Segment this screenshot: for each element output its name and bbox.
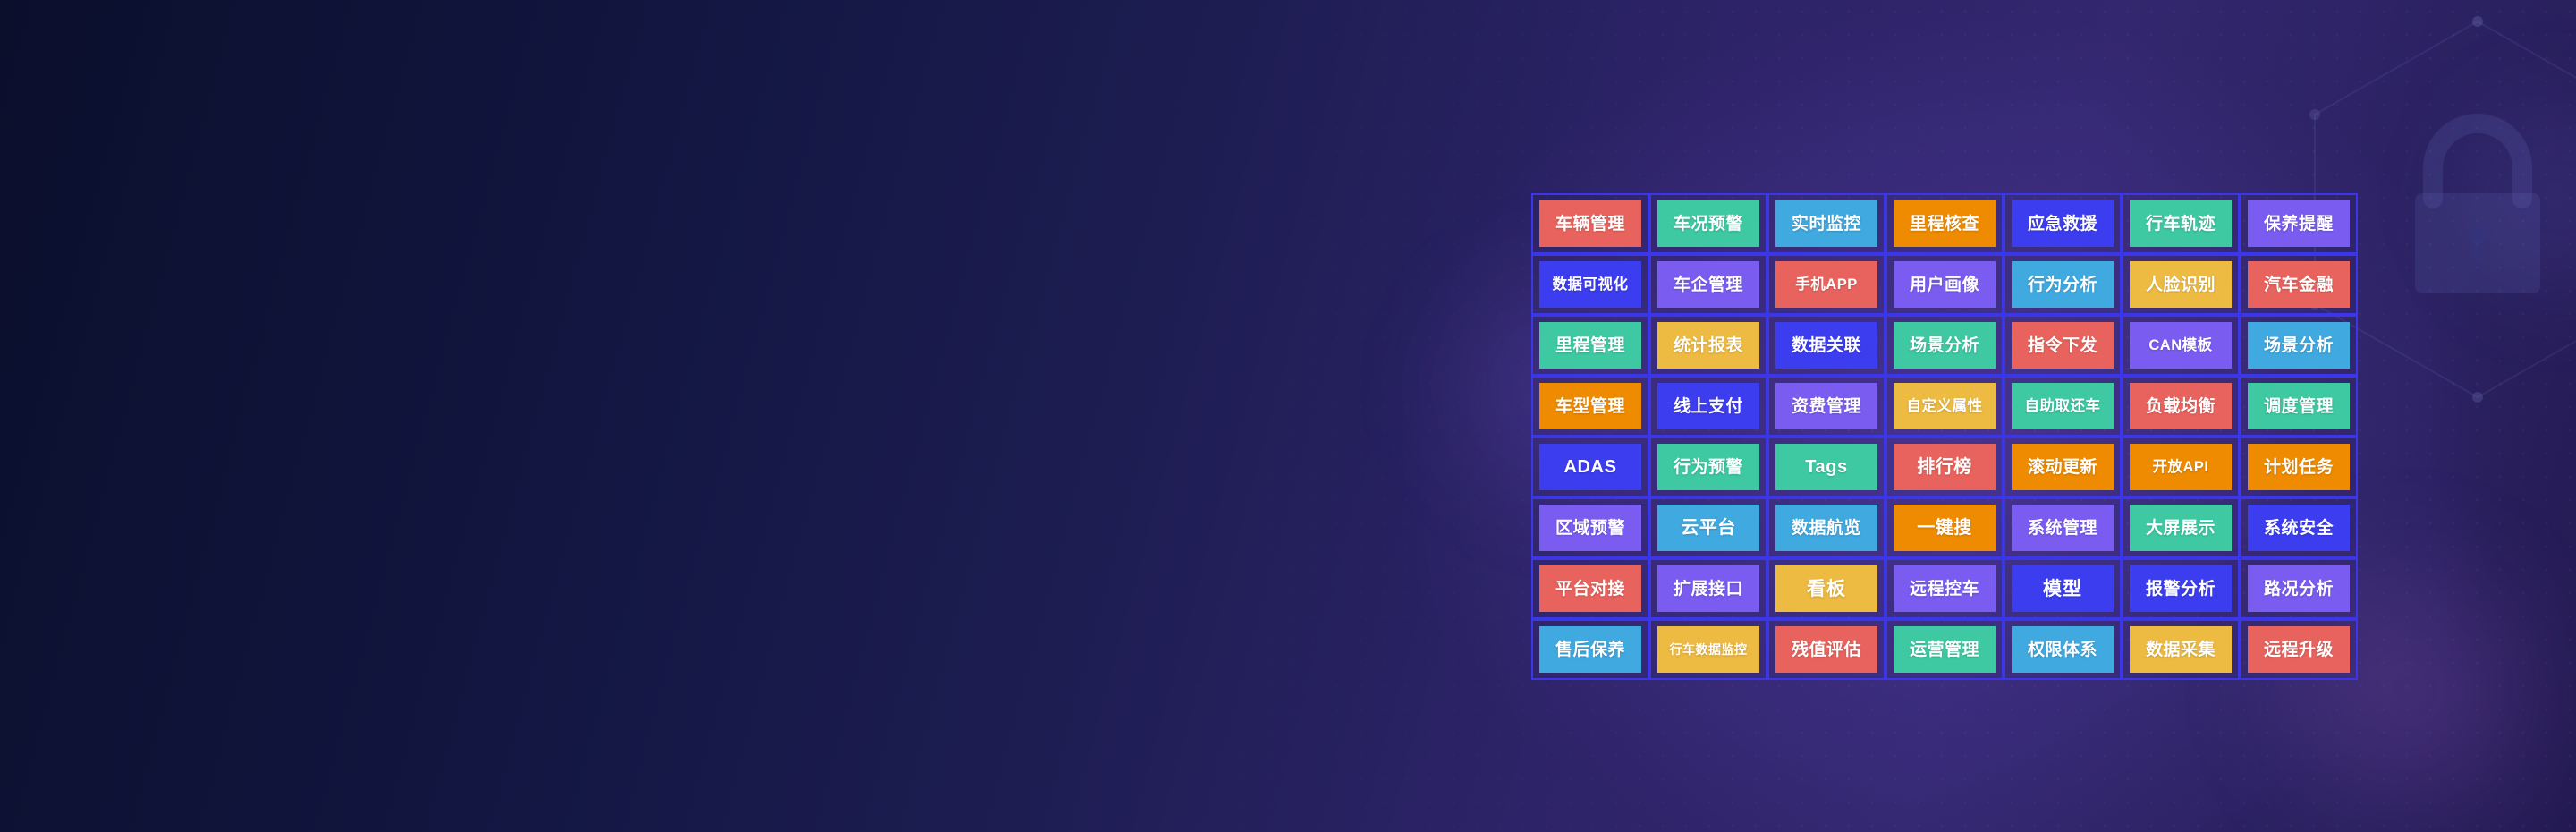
tile-cell[interactable]: 路况分析	[2240, 558, 2358, 619]
tile-label: 模型	[2012, 565, 2114, 612]
tile-cell[interactable]: 车况预警	[1649, 193, 1767, 254]
tile-cell[interactable]: 实时监控	[1767, 193, 1885, 254]
tile-cell[interactable]: 人脸识别	[2122, 254, 2240, 315]
tile-label: 排行榜	[1894, 444, 1996, 490]
tile-cell[interactable]: 行为预警	[1649, 437, 1767, 497]
tile-label: 行为分析	[2012, 261, 2114, 308]
tile-cell[interactable]: 数据可视化	[1531, 254, 1649, 315]
tile-label: 人脸识别	[2130, 261, 2232, 308]
tile-label: 开放API	[2130, 444, 2232, 490]
tile-cell[interactable]: 数据采集	[2122, 619, 2240, 680]
tile-label: 自助取还车	[2012, 383, 2114, 429]
tile-label: 售后保养	[1539, 626, 1641, 673]
tile-cell[interactable]: 资费管理	[1767, 376, 1885, 437]
tile-label: 汽车金融	[2248, 261, 2350, 308]
tile-label: 行车轨迹	[2130, 200, 2232, 247]
tile-cell[interactable]: 统计报表	[1649, 315, 1767, 376]
tile-cell[interactable]: 负载均衡	[2122, 376, 2240, 437]
tile-label: 一键搜	[1894, 505, 1996, 551]
tile-cell[interactable]: 残值评估	[1767, 619, 1885, 680]
tile-cell[interactable]: 行车数据监控	[1649, 619, 1767, 680]
tile-label: 滚动更新	[2012, 444, 2114, 490]
tile-label: 车企管理	[1657, 261, 1759, 308]
tile-label: 看板	[1775, 565, 1877, 612]
tile-label: 运营管理	[1894, 626, 1996, 673]
tile-cell[interactable]: 运营管理	[1885, 619, 2004, 680]
tile-label: 应急救援	[2012, 200, 2114, 247]
tile-cell[interactable]: 自助取还车	[2004, 376, 2122, 437]
tile-cell[interactable]: 远程控车	[1885, 558, 2004, 619]
tile-cell[interactable]: 数据航览	[1767, 497, 1885, 558]
tile-label: 场景分析	[2248, 322, 2350, 369]
tile-cell[interactable]: 场景分析	[1885, 315, 2004, 376]
tile-cell[interactable]: 行为分析	[2004, 254, 2122, 315]
tile-cell[interactable]: 调度管理	[2240, 376, 2358, 437]
tile-cell[interactable]: 车辆管理	[1531, 193, 1649, 254]
tile-cell[interactable]: 线上支付	[1649, 376, 1767, 437]
tile-label: 实时监控	[1775, 200, 1877, 247]
tile-label: 报警分析	[2130, 565, 2232, 612]
tile-label: 扩展接口	[1657, 565, 1759, 612]
tile-label: 资费管理	[1775, 383, 1877, 429]
tile-cell[interactable]: 自定义属性	[1885, 376, 2004, 437]
tile-label: 车辆管理	[1539, 200, 1641, 247]
tile-cell[interactable]: 看板	[1767, 558, 1885, 619]
tile-label: 手机APP	[1775, 261, 1877, 308]
tile-label: 数据采集	[2130, 626, 2232, 673]
tile-cell[interactable]: 排行榜	[1885, 437, 2004, 497]
tile-label: 指令下发	[2012, 322, 2114, 369]
tile-cell[interactable]: 售后保养	[1531, 619, 1649, 680]
tile-label: 用户画像	[1894, 261, 1996, 308]
tile-cell[interactable]: 开放API	[2122, 437, 2240, 497]
tile-label: 统计报表	[1657, 322, 1759, 369]
tile-label: 残值评估	[1775, 626, 1877, 673]
tile-cell[interactable]: 模型	[2004, 558, 2122, 619]
tile-cell[interactable]: 一键搜	[1885, 497, 2004, 558]
tile-label: 大屏展示	[2130, 505, 2232, 551]
tile-label: 线上支付	[1657, 383, 1759, 429]
tile-label: 调度管理	[2248, 383, 2350, 429]
tile-label: Tags	[1775, 444, 1877, 490]
tile-cell[interactable]: 里程核查	[1885, 193, 2004, 254]
tile-label: 行车数据监控	[1657, 626, 1759, 673]
tile-cell[interactable]: 车企管理	[1649, 254, 1767, 315]
tile-cell[interactable]: 扩展接口	[1649, 558, 1767, 619]
tile-cell[interactable]: CAN模板	[2122, 315, 2240, 376]
tile-label: 权限体系	[2012, 626, 2114, 673]
tile-label: 保养提醒	[2248, 200, 2350, 247]
tile-label: 云平台	[1657, 505, 1759, 551]
capability-tile-grid: 车辆管理车况预警实时监控里程核查应急救援行车轨迹保养提醒数据可视化车企管理手机A…	[1531, 193, 2358, 680]
tile-cell[interactable]: 报警分析	[2122, 558, 2240, 619]
tile-cell[interactable]: 平台对接	[1531, 558, 1649, 619]
tile-cell[interactable]: 远程升级	[2240, 619, 2358, 680]
tile-cell[interactable]: 系统安全	[2240, 497, 2358, 558]
tile-cell[interactable]: 滚动更新	[2004, 437, 2122, 497]
tile-cell[interactable]: 区域预警	[1531, 497, 1649, 558]
tile-label: 数据关联	[1775, 322, 1877, 369]
tile-label: 里程管理	[1539, 322, 1641, 369]
tile-label: 车况预警	[1657, 200, 1759, 247]
tile-cell[interactable]: 车型管理	[1531, 376, 1649, 437]
tile-label: 车型管理	[1539, 383, 1641, 429]
tile-cell[interactable]: Tags	[1767, 437, 1885, 497]
tile-label: 远程升级	[2248, 626, 2350, 673]
tile-label: 平台对接	[1539, 565, 1641, 612]
tile-label: 远程控车	[1894, 565, 1996, 612]
tile-label: 行为预警	[1657, 444, 1759, 490]
tile-label: 系统安全	[2248, 505, 2350, 551]
tile-label: 计划任务	[2248, 444, 2350, 490]
tile-label: 区域预警	[1539, 505, 1641, 551]
tile-cell[interactable]: 云平台	[1649, 497, 1767, 558]
tile-cell[interactable]: 手机APP	[1767, 254, 1885, 315]
app-background: 车辆管理车况预警实时监控里程核查应急救援行车轨迹保养提醒数据可视化车企管理手机A…	[0, 0, 2576, 832]
glow-accent-top	[2415, 54, 2576, 340]
tile-label: 数据航览	[1775, 505, 1877, 551]
tile-cell[interactable]: 行车轨迹	[2122, 193, 2240, 254]
tile-label: 场景分析	[1894, 322, 1996, 369]
tile-cell[interactable]: 场景分析	[2240, 315, 2358, 376]
tile-label: ADAS	[1539, 444, 1641, 490]
tile-cell[interactable]: 汽车金融	[2240, 254, 2358, 315]
tile-cell[interactable]: 数据关联	[1767, 315, 1885, 376]
tile-label: 里程核查	[1894, 200, 1996, 247]
tile-cell[interactable]: 计划任务	[2240, 437, 2358, 497]
tile-cell[interactable]: ADAS	[1531, 437, 1649, 497]
tile-label: 负载均衡	[2130, 383, 2232, 429]
tile-label: 数据可视化	[1539, 261, 1641, 308]
tile-cell[interactable]: 大屏展示	[2122, 497, 2240, 558]
tile-cell[interactable]: 用户画像	[1885, 254, 2004, 315]
tile-label: 自定义属性	[1894, 383, 1996, 429]
tile-label: 系统管理	[2012, 505, 2114, 551]
tile-cell[interactable]: 应急救援	[2004, 193, 2122, 254]
tile-label: CAN模板	[2130, 322, 2232, 369]
tile-cell[interactable]: 指令下发	[2004, 315, 2122, 376]
tile-cell[interactable]: 保养提醒	[2240, 193, 2358, 254]
tile-cell[interactable]: 系统管理	[2004, 497, 2122, 558]
tile-cell[interactable]: 里程管理	[1531, 315, 1649, 376]
tile-label: 路况分析	[2248, 565, 2350, 612]
tile-cell[interactable]: 权限体系	[2004, 619, 2122, 680]
